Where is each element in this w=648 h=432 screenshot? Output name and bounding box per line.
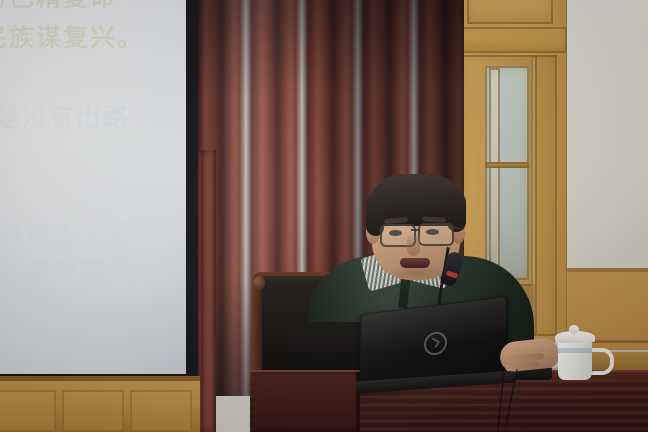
podium-left-panel — [252, 372, 360, 432]
wainscot-cap-moulding — [0, 376, 200, 381]
nose — [407, 236, 420, 256]
chair-frame-left-post — [252, 276, 262, 380]
right-wall-plaster — [560, 0, 648, 270]
screen-light-vignette — [0, 0, 186, 374]
wainscot-panel — [130, 390, 192, 432]
photograph-scene: 与己精复命 民族谋复兴。 族是没有出路 ，共产主义远 想，是中国共 — [0, 0, 648, 432]
chair-finial-knob — [253, 276, 265, 290]
eyeglasses-bridge — [411, 229, 420, 231]
door-mullion — [485, 162, 529, 168]
wainscot-panel — [62, 390, 124, 432]
tea-cup-handle — [589, 348, 614, 375]
speaker-right-hand — [499, 337, 560, 373]
chin-shadow — [388, 266, 446, 280]
tea-cup-body[interactable] — [558, 340, 592, 380]
tea-cup-lid-knob — [569, 325, 579, 334]
tea-cup-decor-band — [558, 348, 592, 353]
wainscot-panel — [0, 390, 56, 432]
door-top-panel — [467, 0, 553, 24]
door-rail — [455, 27, 567, 53]
